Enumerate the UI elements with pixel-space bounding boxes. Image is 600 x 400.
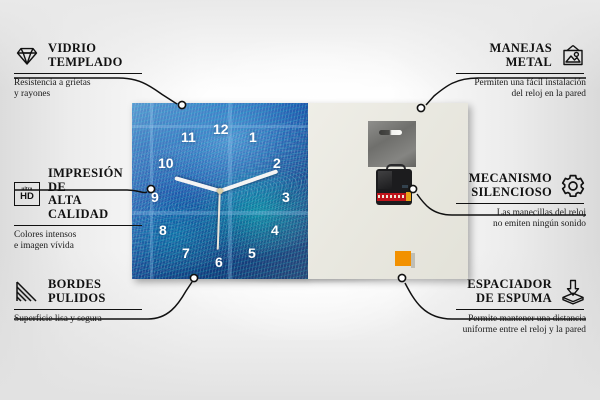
- metal-hanger-plate: [368, 121, 416, 167]
- callout-espaciador-espuma: ESPACIADOR DE ESPUMA Permite mantener un…: [456, 278, 586, 336]
- callout-title-line1: IMPRESIÓN DE: [48, 167, 144, 194]
- clock-numeral-11: 11: [181, 130, 196, 144]
- ultra-hd-icon: ultra HD: [14, 181, 40, 207]
- callout-impresion-alta-calidad: ultra HD IMPRESIÓN DE ALTA CALIDAD Color…: [14, 167, 144, 252]
- callout-desc-line1: Colores intensos: [14, 230, 144, 241]
- callout-title-line2: ALTA CALIDAD: [48, 194, 144, 221]
- callout-divider: [14, 73, 142, 74]
- callout-title-line2: PULIDOS: [48, 292, 106, 306]
- callout-vidrio-templado: VIDRIO TEMPLADO Resistencia a grietas y …: [14, 42, 144, 100]
- callout-divider: [456, 73, 584, 74]
- diamond-icon: [14, 43, 40, 69]
- ultra-hd-large-text: HD: [20, 192, 34, 202]
- callout-bordes-pulidos: BORDES PULIDOS Superficie lisa y segura: [14, 278, 144, 325]
- hanger-keyhole-slot: [379, 130, 402, 135]
- diagonal-lines-icon: [14, 279, 40, 305]
- wall-clock-front: 12 1 2 3 4 5 6 7 8 9 10 11: [132, 103, 308, 279]
- callout-header: BORDES PULIDOS: [14, 278, 144, 305]
- callout-title: BORDES PULIDOS: [48, 278, 106, 305]
- clock-numeral-12: 12: [213, 122, 229, 136]
- clock-numeral-6: 6: [215, 255, 223, 269]
- callout-title-line1: BORDES: [48, 278, 106, 292]
- callout-title-line2: TEMPLADO: [48, 56, 123, 70]
- callout-divider: [456, 309, 584, 310]
- clock-center-pin: [217, 188, 223, 194]
- clock-numeral-2: 2: [273, 156, 281, 170]
- callout-title-line1: ESPACIADOR: [467, 278, 552, 292]
- gear-icon: [560, 173, 586, 199]
- arrow-down-onto-pad-icon: [560, 279, 586, 305]
- callout-title: VIDRIO TEMPLADO: [48, 42, 123, 69]
- infographic-canvas: 12 1 2 3 4 5 6 7 8 9 10 11: [0, 0, 600, 400]
- foam-spacer-shadow: [411, 253, 415, 268]
- callout-title-line2: DE ESPUMA: [467, 292, 552, 306]
- clock-numeral-5: 5: [248, 246, 256, 260]
- ultra-hd-badge: ultra HD: [14, 182, 40, 206]
- clock-numeral-8: 8: [159, 223, 167, 237]
- callout-desc-line1: Las manecillas del reloj: [456, 208, 586, 219]
- clock-numeral-10: 10: [158, 156, 174, 170]
- clock-numeral-7: 7: [182, 246, 190, 260]
- callout-title-line1: MECANISMO: [469, 172, 552, 186]
- callout-desc-line2: del reloj en la pared: [456, 89, 586, 100]
- hanging-picture-icon: [560, 43, 586, 69]
- callout-title: IMPRESIÓN DE ALTA CALIDAD: [48, 167, 144, 221]
- callout-title: MECANISMO SILENCIOSO: [469, 172, 552, 199]
- clock-numeral-9: 9: [151, 190, 159, 204]
- mechanism-highlight: [378, 171, 392, 189]
- callout-title-line2: METAL: [489, 56, 552, 70]
- foam-spacer: [395, 251, 411, 266]
- callout-desc-line1: Permite mantener una distancia: [456, 314, 586, 325]
- clock-numeral-4: 4: [271, 223, 279, 237]
- callout-title: MANEJAS METAL: [489, 42, 552, 69]
- callout-title: ESPACIADOR DE ESPUMA: [467, 278, 552, 305]
- callout-title-line1: VIDRIO: [48, 42, 123, 56]
- callout-mecanismo-silencioso: MECANISMO SILENCIOSO Las manecillas del …: [456, 172, 586, 230]
- callout-desc-line2: y rayones: [14, 89, 144, 100]
- callout-header: VIDRIO TEMPLADO: [14, 42, 144, 69]
- callout-divider: [14, 309, 142, 310]
- mechanism-yellow-tab: [406, 192, 411, 201]
- callout-desc-line1: Permiten una fácil instalación: [456, 78, 586, 89]
- callout-title-line1: MANEJAS: [489, 42, 552, 56]
- callout-desc-line2: e imagen vívida: [14, 241, 144, 252]
- product-photo: 12 1 2 3 4 5 6 7 8 9 10 11: [132, 103, 468, 279]
- callout-header: MECANISMO SILENCIOSO: [456, 172, 586, 199]
- callout-header: MANEJAS METAL: [456, 42, 586, 69]
- mechanism-label-text: [378, 195, 406, 198]
- callout-desc-line2: no emiten ningún sonido: [456, 219, 586, 230]
- clock-numeral-3: 3: [282, 190, 290, 204]
- callout-header: ultra HD IMPRESIÓN DE ALTA CALIDAD: [14, 167, 144, 221]
- callout-divider: [14, 225, 142, 226]
- mechanism-detail: [402, 185, 408, 188]
- callout-header: ESPACIADOR DE ESPUMA: [456, 278, 586, 305]
- callout-desc-line1: Superficie lisa y segura: [14, 314, 144, 325]
- callout-divider: [456, 203, 584, 204]
- callout-title-line2: SILENCIOSO: [469, 186, 552, 200]
- callout-desc-line2: uniforme entre el reloj y la pared: [456, 325, 586, 336]
- clock-numeral-1: 1: [249, 130, 257, 144]
- callout-desc-line1: Resistencia a grietas: [14, 78, 144, 89]
- callout-manejas-metal: MANEJAS METAL Permiten una fácil instala…: [456, 42, 586, 100]
